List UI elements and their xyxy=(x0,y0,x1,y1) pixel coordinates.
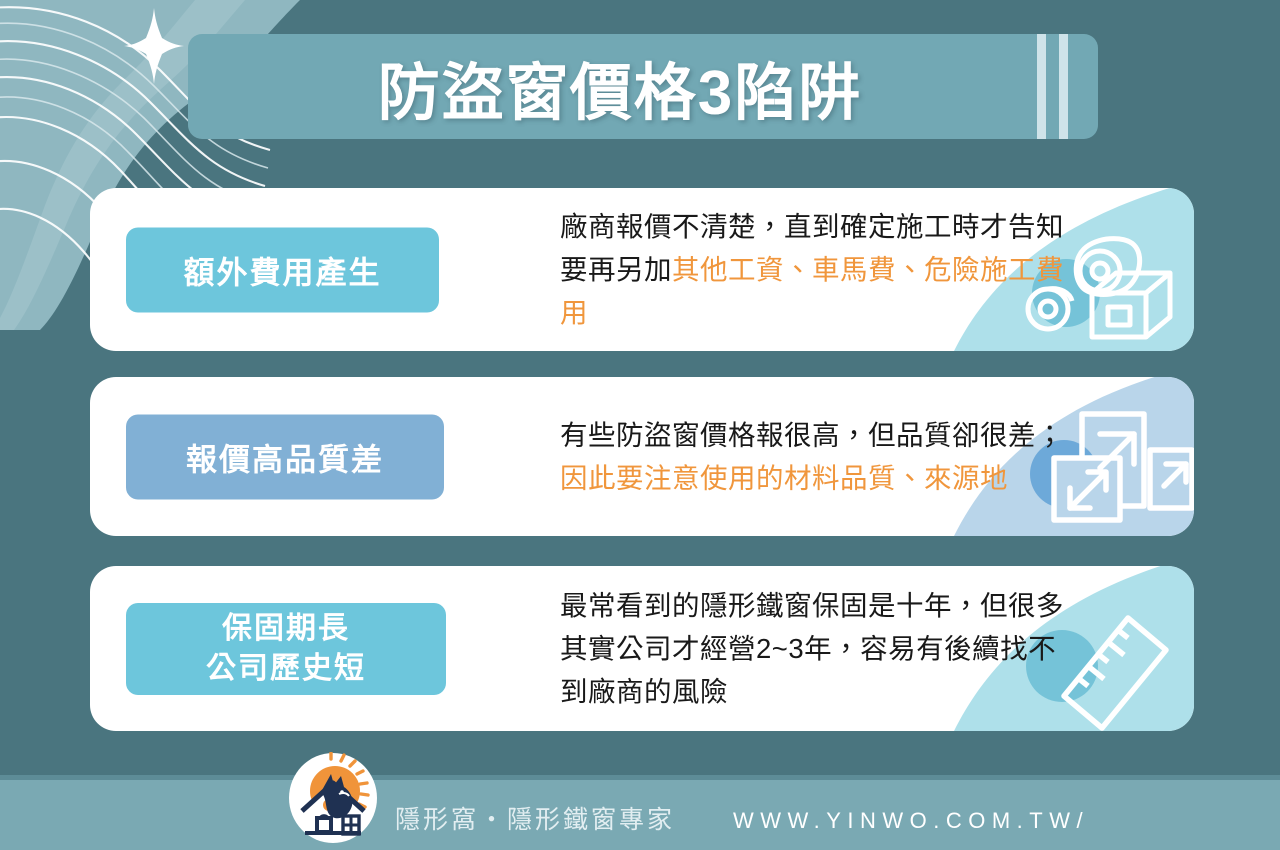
page-title: 防盜窗價格3陷阱 xyxy=(188,42,1098,132)
cat-house-logo xyxy=(287,752,379,844)
infographic-poster: 防盜窗價格3陷阱 xyxy=(0,0,1280,850)
footer-brand-text: 隱形窩・隱形鐵窗專家 xyxy=(395,800,675,836)
page-title-bar: 防盜窗價格3陷阱 xyxy=(188,34,1098,139)
sparkle-icon xyxy=(124,8,184,84)
trap-badge-label-2: 報價高品質差 xyxy=(126,434,444,479)
trap-badge-label-3-line2: 公司歷史短 xyxy=(126,649,446,689)
ruler-icon xyxy=(1064,618,1166,728)
trap-card-1: 額外費用產生 廠商報價不清楚，直到確定施工時才告知要再另加其他工資、車馬費、危險… xyxy=(90,188,1194,351)
trap-badge-1: 額外費用產生 xyxy=(126,227,439,312)
trap-body-3: 最常看到的隱形鐵窗保固是十年，但很多其實公司才經營2~3年，容易有後續找不到廠商… xyxy=(560,583,1064,713)
trap-badge-label-3-line1: 保固期長 xyxy=(126,609,446,649)
trap-body-1: 廠商報價不清楚，直到確定施工時才告知要再另加其他工資、車馬費、危險施工費用 xyxy=(560,204,1064,334)
resize-arrows-icon xyxy=(1054,414,1192,520)
trap-body-plain-2: 有些防盜窗價格報很高，但品質卻很差； xyxy=(560,419,1064,450)
trap-badge-3: 保固期長 公司歷史短 xyxy=(126,603,446,695)
trap-card-2: 報價高品質差 有些防盜窗價格報很高，但品質卻很差； 因此要注意使用的材料品質、來… xyxy=(90,377,1194,536)
trap-badge-2: 報價高品質差 xyxy=(126,414,444,499)
trap-body-highlight-2: 因此要注意使用的材料品質、來源地 xyxy=(560,463,1008,494)
trap-card-3: 保固期長 公司歷史短 最常看到的隱形鐵窗保固是十年，但很多其實公司才經營2~3年… xyxy=(90,566,1194,731)
trap-badge-label-1: 額外費用產生 xyxy=(126,247,439,292)
trap-body-2: 有些防盜窗價格報很高，但品質卻很差； 因此要注意使用的材料品質、來源地 xyxy=(560,413,1064,500)
footer-url-text[interactable]: WWW.YINWO.COM.TW/ xyxy=(733,808,1089,834)
trap-body-plain-3: 最常看到的隱形鐵窗保固是十年，但很多其實公司才經營2~3年，容易有後續找不到廠商… xyxy=(560,589,1064,707)
